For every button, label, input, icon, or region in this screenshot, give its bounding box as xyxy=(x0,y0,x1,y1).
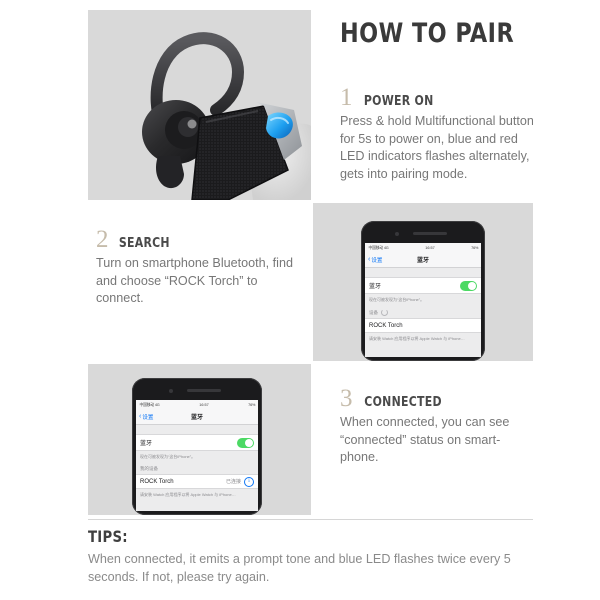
device-row-rock-torch[interactable]: ROCK Torch 已连接 i xyxy=(136,474,258,489)
my-devices-section-label: 我的设备 xyxy=(140,466,158,472)
status-time: 16:57 xyxy=(199,402,209,407)
tips-section: TIPS: When connected, it emits a prompt … xyxy=(88,527,548,586)
earpiece-speaker xyxy=(413,232,447,235)
step-2: 2 SEARCH Turn on smartphone Bluetooth, f… xyxy=(96,227,301,308)
device-row-trailing: 已连接 i xyxy=(226,477,254,487)
status-battery: 76% xyxy=(471,245,478,250)
page-title: HOW TO PAIR xyxy=(340,18,514,49)
bluetooth-toggle-row[interactable]: 蓝牙 xyxy=(365,277,481,294)
earpiece-speaker xyxy=(187,389,221,392)
step-2-label: SEARCH xyxy=(118,235,169,251)
my-devices-section-header: 我的设备 xyxy=(136,464,258,474)
step-3-body: When connected, you can see “connected” … xyxy=(340,414,533,467)
tips-title: TIPS: xyxy=(88,527,511,546)
loading-spinner-icon xyxy=(381,309,388,316)
bluetooth-toggle-switch[interactable] xyxy=(237,438,254,448)
ios-nav-bar: ‹ 设置 蓝牙 xyxy=(136,409,258,425)
step-1-header: 1 POWER ON xyxy=(340,85,533,110)
title-and-step1-panel: HOW TO PAIR 1 POWER ON Press & hold Mult… xyxy=(313,10,533,200)
smartphone-search: 中国移动 4G 16:57 76% ‹ 设置 蓝牙 蓝牙 现在可被发现为“ xyxy=(361,221,485,361)
phone-search-panel: 中国移动 4G 16:57 76% ‹ 设置 蓝牙 蓝牙 现在可被发现为“ xyxy=(313,203,533,361)
discoverable-note: 现在可被发现为“这台iPhone”。 xyxy=(136,451,258,464)
step-3-number: 3 xyxy=(340,386,353,411)
status-time: 16:57 xyxy=(425,245,435,250)
step3-text-panel: 3 CONNECTED When connected, you can see … xyxy=(313,364,533,515)
info-icon[interactable]: i xyxy=(244,477,254,487)
front-camera-icon xyxy=(395,232,399,236)
step-1: 1 POWER ON Press & hold Multifunctional … xyxy=(340,85,533,183)
step-2-body: Turn on smartphone Bluetooth, find and c… xyxy=(96,255,301,308)
list-spacer xyxy=(365,268,481,277)
ios-status-bar: 中国移动 4G 16:57 76% xyxy=(136,400,258,409)
step-1-number: 1 xyxy=(340,85,353,110)
status-carrier: 中国移动 4G xyxy=(140,402,160,408)
tips-body: When connected, it emits a prompt tone a… xyxy=(88,551,548,586)
step-2-number: 2 xyxy=(96,227,109,252)
instruction-sheet: HOW TO PAIR 1 POWER ON Press & hold Mult… xyxy=(0,0,600,600)
bluetooth-toggle-row[interactable]: 蓝牙 xyxy=(136,434,258,451)
discoverable-note: 现在可被发现为“这台iPhone”。 xyxy=(365,294,481,307)
nav-title: 蓝牙 xyxy=(365,255,481,264)
step-2-header: 2 SEARCH xyxy=(96,227,301,252)
status-carrier: 中国移动 4G xyxy=(369,245,389,251)
front-camera-icon xyxy=(169,389,173,393)
ios-status-bar: 中国移动 4G 16:57 76% xyxy=(365,243,481,252)
phone-screen-search: 中国移动 4G 16:57 76% ‹ 设置 蓝牙 蓝牙 现在可被发现为“ xyxy=(365,243,481,357)
step-3: 3 CONNECTED When connected, you can see … xyxy=(340,386,533,467)
bluetooth-toggle-label: 蓝牙 xyxy=(369,281,381,290)
device-connection-status: 已连接 xyxy=(226,478,241,485)
step2-text-panel: 2 SEARCH Turn on smartphone Bluetooth, f… xyxy=(88,203,311,361)
devices-section-header: 设备 xyxy=(365,307,481,318)
ios-nav-bar: ‹ 设置 蓝牙 xyxy=(365,252,481,268)
bluetooth-earpiece-illustration xyxy=(88,10,311,200)
step-1-label: POWER ON xyxy=(363,93,433,109)
hero-image-panel xyxy=(88,10,311,200)
bluetooth-toggle-label: 蓝牙 xyxy=(140,438,152,447)
watch-app-footer: 请安装 Watch 应用程序以将 Apple Watch 与 iPhone… xyxy=(136,489,258,501)
phone-screen-connected: 中国移动 4G 16:57 76% ‹ 设置 蓝牙 蓝牙 现在可被发现为“ xyxy=(136,400,258,511)
nav-title: 蓝牙 xyxy=(136,412,258,421)
step-1-body: Press & hold Multifunctional button for … xyxy=(340,113,533,183)
device-name: ROCK Torch xyxy=(369,323,403,329)
devices-section-label: 设备 xyxy=(369,310,378,316)
status-battery: 76% xyxy=(248,402,255,407)
device-name: ROCK Torch xyxy=(140,479,174,485)
smartphone-connected: 中国移动 4G 16:57 76% ‹ 设置 蓝牙 蓝牙 现在可被发现为“ xyxy=(132,378,262,515)
tips-divider xyxy=(88,519,533,520)
step-3-header: 3 CONNECTED xyxy=(340,386,533,411)
step-3-label: CONNECTED xyxy=(364,394,442,410)
bluetooth-toggle-switch[interactable] xyxy=(460,281,477,291)
phone-connected-panel: 中国移动 4G 16:57 76% ‹ 设置 蓝牙 蓝牙 现在可被发现为“ xyxy=(88,364,311,515)
device-row-rock-torch[interactable]: ROCK Torch xyxy=(365,318,481,333)
watch-app-footer: 请安装 Watch 应用程序以将 Apple Watch 与 iPhone… xyxy=(365,333,481,345)
list-spacer xyxy=(136,425,258,434)
